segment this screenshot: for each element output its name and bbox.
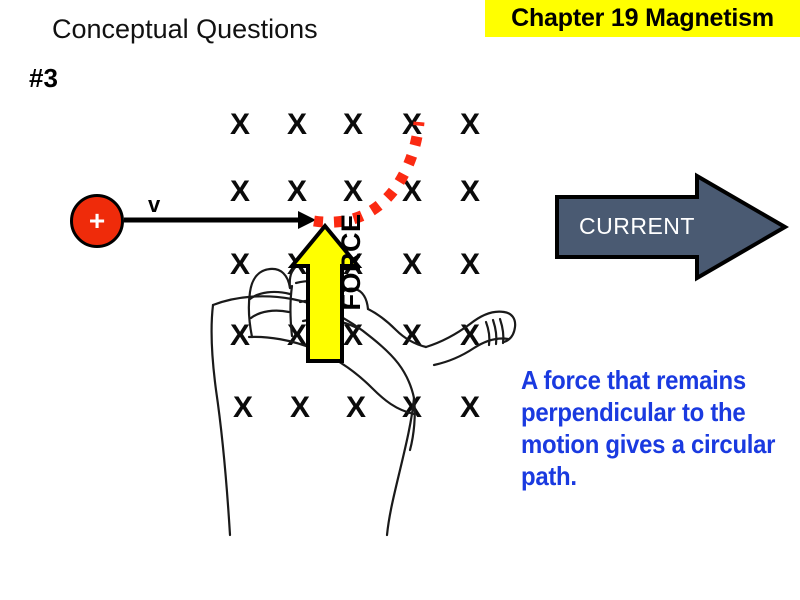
chapter-banner: Chapter 19 Magnetism [485,0,800,37]
velocity-label: v [148,192,160,218]
page-title: Conceptual Questions [52,14,318,45]
current-arrow-label: CURRENT [562,213,712,240]
positive-charge-particle: + [70,194,124,248]
field-symbol-x: X [230,250,250,280]
field-symbol-x: X [460,393,480,423]
chapter-banner-title: Chapter 19 Magnetism [485,0,800,37]
field-symbol-x: X [402,393,422,423]
field-symbol-x: X [230,110,250,140]
field-symbol-x: X [290,393,310,423]
field-symbol-x: X [287,321,307,351]
field-symbol-x: X [230,177,250,207]
right-hand-illustration [0,0,800,600]
field-symbol-x: X [402,110,422,140]
field-symbol-x: X [460,110,480,140]
field-symbol-x: X [402,250,422,280]
force-arrow-label: FORCE [336,203,366,321]
field-symbol-x: X [230,321,250,351]
question-number: #3 [29,63,58,94]
field-symbol-x: X [287,110,307,140]
field-symbol-x: X [402,177,422,207]
slide-canvas: Chapter 19 Magnetism Conceptual Question… [0,0,800,600]
charge-sign-label: + [73,197,121,245]
field-symbol-x: X [460,321,480,351]
field-symbol-x: X [287,177,307,207]
field-symbol-x: X [460,250,480,280]
field-symbol-x: X [233,393,253,423]
field-symbol-x: X [402,321,422,351]
field-symbol-x: X [346,393,366,423]
vector-overlay [0,0,800,600]
field-symbol-x: X [287,250,307,280]
field-symbol-x: X [460,177,480,207]
field-symbol-x: X [343,110,363,140]
field-symbol-x: X [343,321,363,351]
conclusion-text: A force that remains perpendicular to th… [521,364,777,492]
